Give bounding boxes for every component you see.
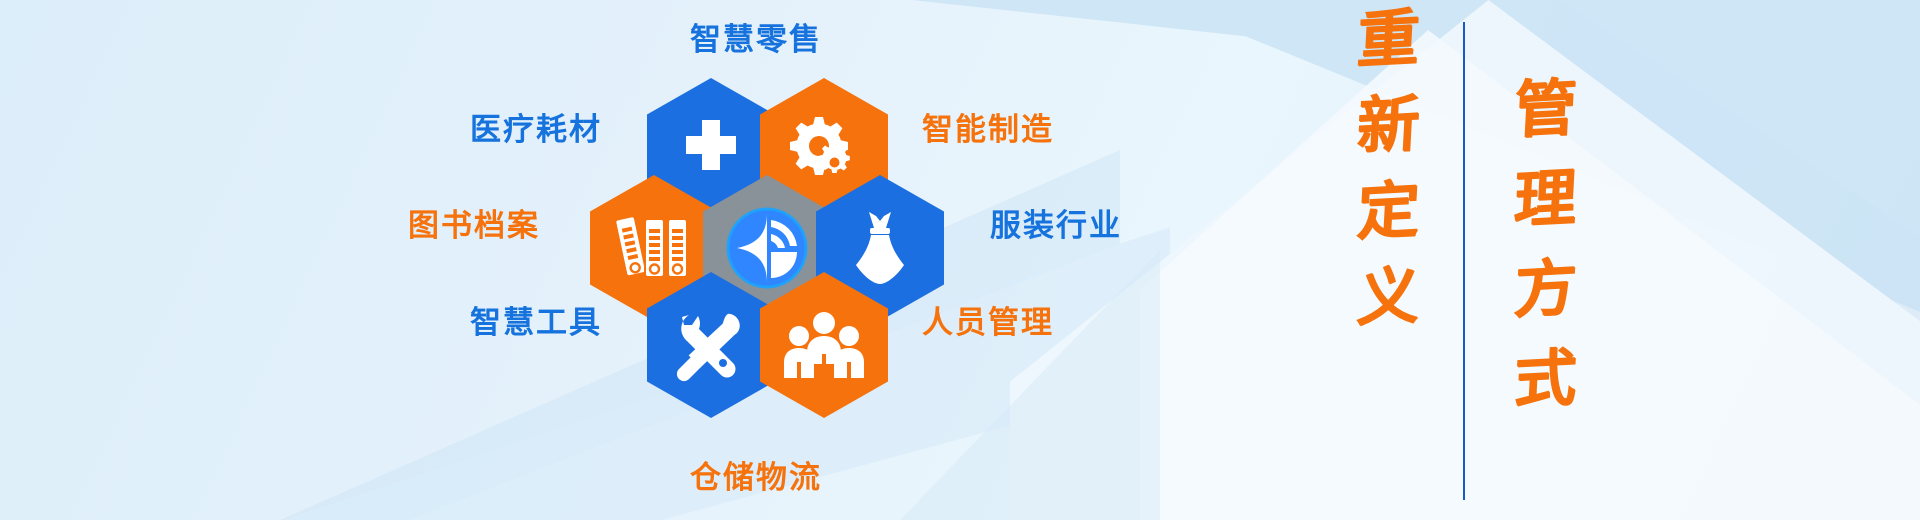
slogan-divider-line: [1463, 22, 1465, 500]
slogan-col1-char-2: 新: [1355, 92, 1421, 157]
hex-label-mid-left: 图书档案: [408, 200, 540, 245]
slogan-column-1: 重 新 定 义: [1328, 0, 1448, 520]
wrench-screwdriver-icon: [671, 305, 751, 385]
slogan-col1-char-1: 重: [1355, 6, 1421, 71]
hex-label-upper-right: 智能制造: [922, 104, 1054, 149]
slogan-col2-char-1: 管: [1512, 76, 1578, 141]
slogan-col1-char-4: 义: [1355, 264, 1421, 329]
hex-label-upper-left: 医疗耗材: [470, 104, 602, 149]
hex-label-top: 智慧零售: [690, 14, 822, 59]
slogan-col2-char-3: 方: [1512, 256, 1578, 321]
hex-label-lower-right: 人员管理: [922, 297, 1054, 342]
hex-label-mid-right: 服装行业: [990, 200, 1122, 245]
gears-icon: [784, 113, 864, 189]
banner-stage: 智慧零售 医疗耗材 智能制造 图书档案 服装行业 智慧工具 人员管理 仓储物流 …: [0, 0, 1920, 520]
hex-label-bottom: 仓储物流: [690, 452, 822, 497]
medical-cross-icon: [674, 114, 748, 188]
slogan-col2-char-2: 理: [1512, 166, 1578, 231]
binders-icon: [614, 211, 694, 285]
people-group-icon: [783, 310, 865, 380]
hexagon-cluster: [0, 0, 1000, 520]
slogan-col2-char-4: 式: [1512, 346, 1578, 411]
slogan-column-2: 管 理 方 式: [1485, 0, 1605, 520]
dress-icon: [841, 208, 919, 288]
slogan-block: 重 新 定 义 管 理 方 式: [1300, 0, 1630, 520]
brand-logo-icon: [723, 204, 811, 292]
slogan-col1-char-3: 定: [1355, 178, 1421, 243]
hex-label-lower-left: 智慧工具: [470, 297, 602, 342]
